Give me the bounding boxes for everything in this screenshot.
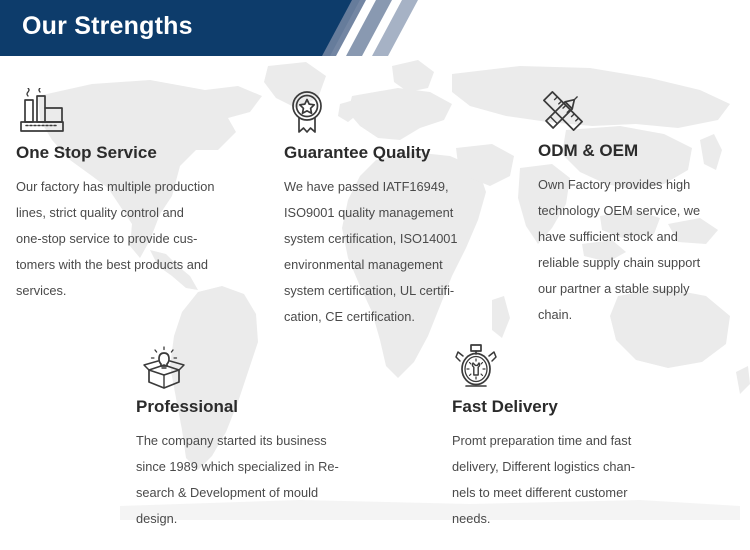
pencil-ruler-icon xyxy=(538,86,738,134)
card-body: Our factory has multiple production line… xyxy=(16,174,256,304)
stopwatch-wrench-icon xyxy=(452,342,688,390)
card-title: Professional xyxy=(136,396,386,418)
card-odm-oem: ODM & OEM Own Factory provides high tech… xyxy=(538,86,738,328)
factory-icon xyxy=(16,88,256,136)
award-medal-icon xyxy=(284,88,516,136)
card-one-stop-service: One Stop Service Our factory has multipl… xyxy=(16,88,256,304)
strengths-cards-grid: One Stop Service Our factory has multipl… xyxy=(0,0,750,550)
page-title: Our Strengths xyxy=(22,9,193,43)
card-title: ODM & OEM xyxy=(538,140,738,162)
card-title: Guarantee Quality xyxy=(284,142,516,164)
card-body: Promt preparation time and fast delivery… xyxy=(452,428,688,532)
card-body: Own Factory provides high technology OEM… xyxy=(538,172,738,328)
card-title: Fast Delivery xyxy=(452,396,688,418)
card-body: We have passed IATF16949, ISO9001 qualit… xyxy=(284,174,516,330)
card-fast-delivery: Fast Delivery Promt preparation time and… xyxy=(452,342,688,532)
card-title: One Stop Service xyxy=(16,142,256,164)
card-guarantee-quality: Guarantee Quality We have passed IATF169… xyxy=(284,88,516,330)
card-body: The company started its business since 1… xyxy=(136,428,386,532)
box-lightbulb-icon xyxy=(136,342,386,390)
card-professional: Professional The company started its bus… xyxy=(136,342,386,532)
